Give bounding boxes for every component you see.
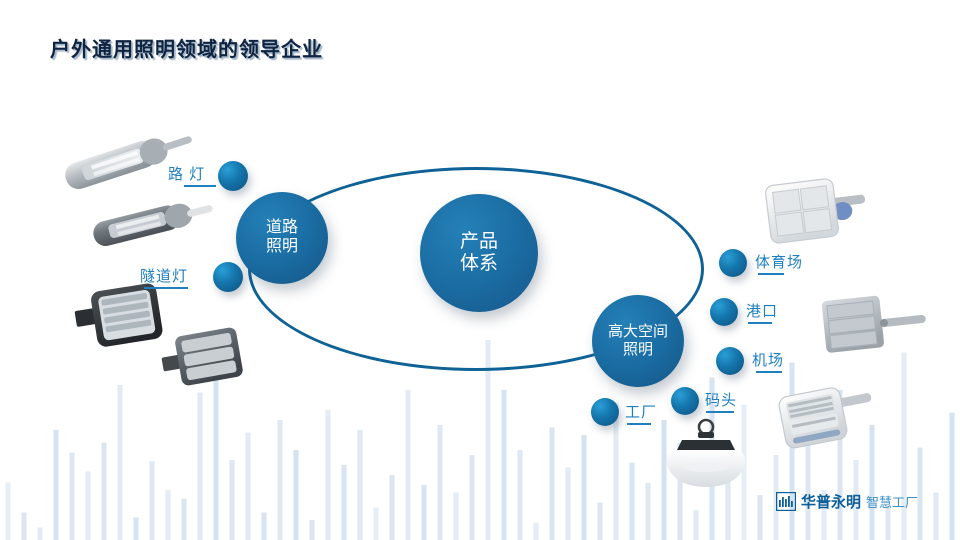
hub-center-line2: 体系	[460, 253, 498, 275]
node-dot-factory[interactable]	[591, 398, 619, 426]
product-street-lamp-2	[85, 192, 215, 260]
node-dot-wharf[interactable]	[671, 387, 699, 415]
hub-road-lighting[interactable]: 道路 照明	[236, 192, 328, 284]
logo-company-name: 华普永明	[801, 491, 861, 512]
node-label-stadium-text: 体育场	[755, 254, 803, 271]
underline	[756, 371, 782, 373]
node-label-street-light[interactable]: 路 灯	[168, 163, 216, 187]
node-label-airport[interactable]: 机场	[752, 349, 784, 373]
underline	[706, 411, 734, 413]
hub-road-line1: 道路	[266, 219, 298, 238]
brand-logo: 华普永明 智慧工厂	[776, 491, 918, 512]
howard-logo-icon	[776, 492, 796, 511]
node-label-tunnel-light-text: 隧道灯	[140, 268, 188, 285]
node-label-stadium[interactable]: 体育场	[755, 251, 803, 275]
underline	[758, 273, 784, 275]
node-label-factory-text: 工厂	[625, 404, 657, 421]
page-title: 户外通用照明领域的领导企业	[50, 33, 323, 62]
node-dot-airport[interactable]	[716, 347, 744, 375]
underline	[144, 287, 188, 289]
node-label-factory[interactable]: 工厂	[625, 401, 657, 425]
node-label-tunnel-light[interactable]: 隧道灯	[140, 265, 188, 289]
slide-canvas: 产品 体系 道路 照明 高大空间 照明 路 灯 隧道灯 体育场 港口	[0, 0, 960, 540]
logo-subtitle: 智慧工厂	[866, 492, 918, 511]
node-dot-street-light[interactable]	[218, 161, 248, 191]
node-dot-port[interactable]	[710, 298, 738, 326]
hub-highbay-line1: 高大空间	[608, 323, 668, 341]
hub-center-line1: 产品	[460, 231, 498, 253]
product-highbay-ufo	[654, 414, 758, 510]
underline	[627, 423, 651, 425]
node-label-airport-text: 机场	[752, 352, 784, 369]
product-port-flood	[818, 288, 930, 360]
product-airport-flood	[778, 378, 888, 454]
product-stadium-flood	[762, 172, 874, 248]
node-label-wharf[interactable]: 码头	[705, 389, 737, 413]
underline	[748, 322, 772, 324]
node-label-port-text: 港口	[746, 303, 778, 320]
hub-high-space-lighting[interactable]: 高大空间 照明	[592, 295, 684, 387]
node-dot-tunnel-light[interactable]	[213, 262, 243, 292]
node-label-wharf-text: 码头	[705, 392, 737, 409]
node-dot-stadium[interactable]	[719, 249, 747, 277]
hub-road-line2: 照明	[266, 238, 298, 257]
hub-product-system[interactable]: 产品 体系	[420, 194, 538, 312]
product-tunnel-flood-2	[160, 320, 252, 394]
node-label-street-light-text: 路 灯	[168, 166, 205, 183]
node-label-port[interactable]: 港口	[746, 300, 778, 324]
underline	[184, 185, 216, 187]
hub-highbay-line2: 照明	[608, 341, 668, 359]
